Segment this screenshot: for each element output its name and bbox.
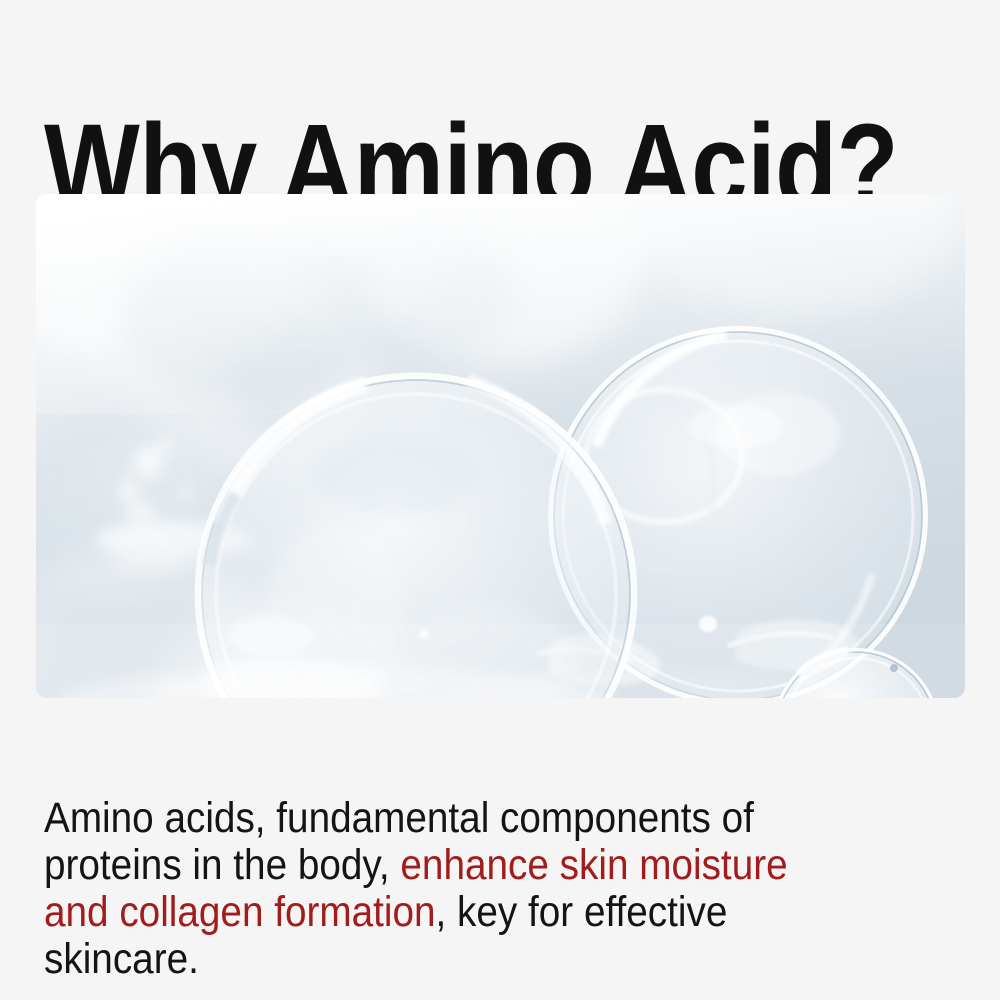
marketing-info-card: Why Amino Acid? xyxy=(0,0,1000,1000)
body-paragraph: Amino acids, fundamental components of p… xyxy=(44,795,854,983)
hero-image xyxy=(36,194,965,698)
bubbles-illustration xyxy=(36,194,965,698)
